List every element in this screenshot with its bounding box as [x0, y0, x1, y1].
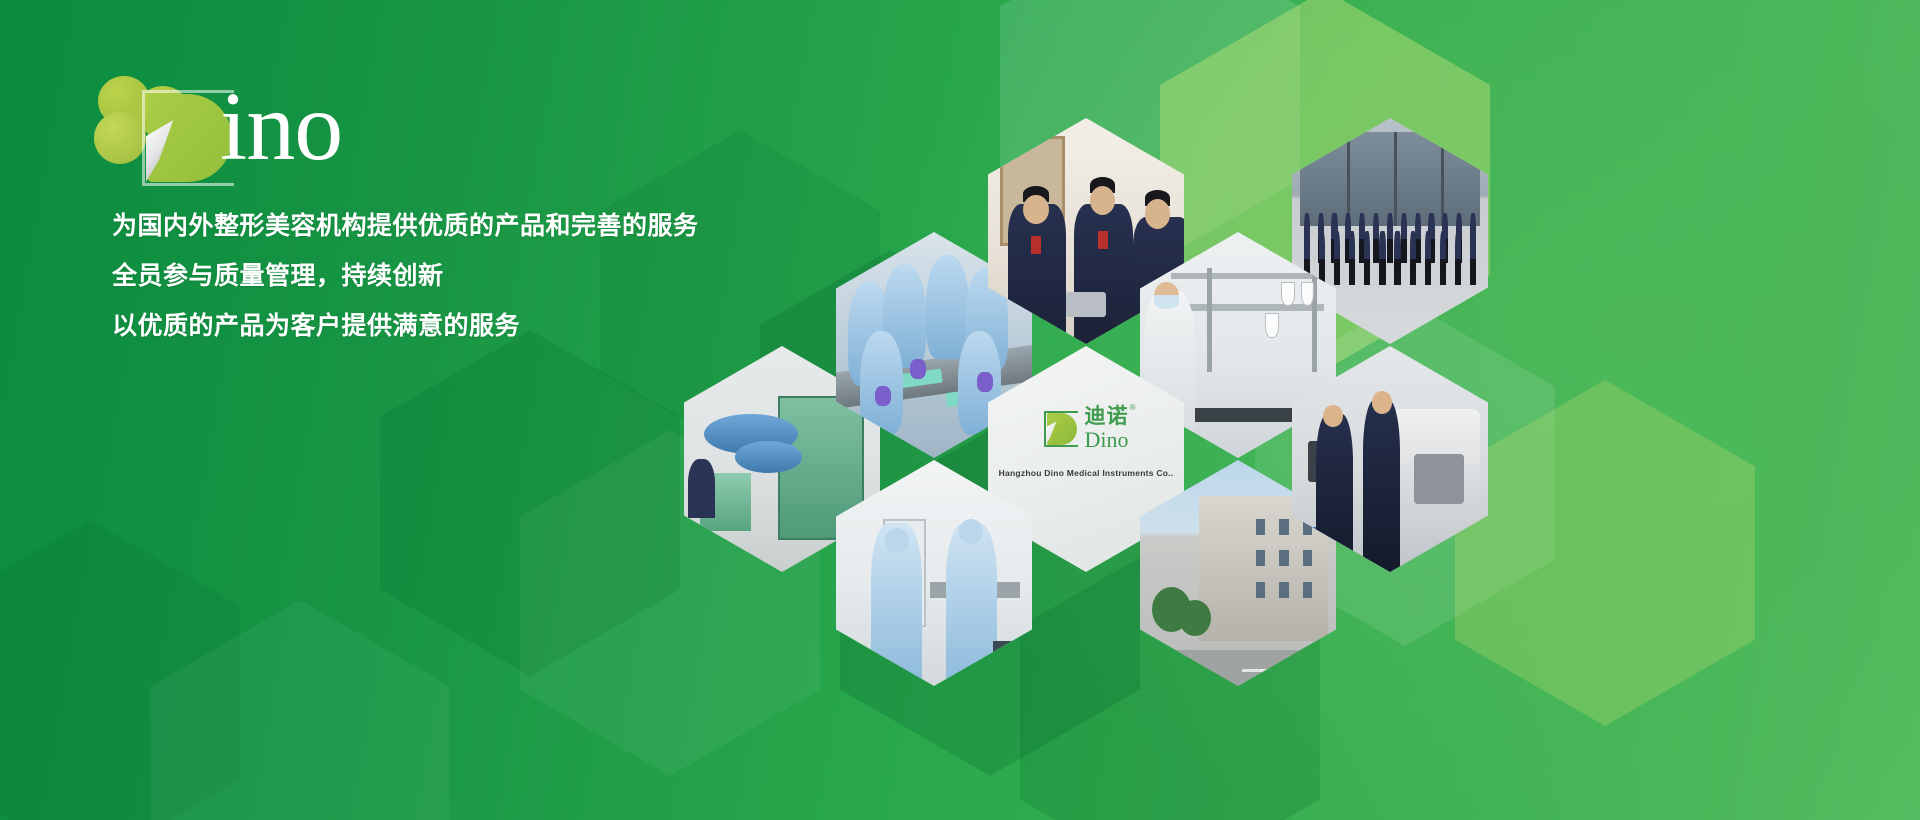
dino-logo: ino	[92, 70, 422, 185]
hero-banner: ino 为国内外整形美容机构提供优质的产品和完善的服务 全员参与质量管理，持续创…	[0, 0, 1920, 820]
center-dino-logo: 迪诺® Dino	[988, 406, 1184, 451]
leaf-icon-3	[94, 112, 146, 164]
center-logo-text: 迪诺® Dino	[1085, 406, 1129, 451]
center-logo-chinese-name: 迪诺®	[1085, 406, 1129, 427]
brand-wordmark: ino	[220, 78, 342, 176]
center-logo-company-line: Hangzhou Dino Medical Instruments Co..	[988, 468, 1184, 478]
center-d-leaf-mark-icon	[1044, 411, 1078, 447]
registered-trademark-icon: ®	[1130, 404, 1137, 412]
center-logo-english-name: Dino	[1085, 429, 1129, 451]
photo-honeycomb: 迪诺® Dino Hangzhou Dino Medical Instrumen…	[640, 84, 1920, 644]
